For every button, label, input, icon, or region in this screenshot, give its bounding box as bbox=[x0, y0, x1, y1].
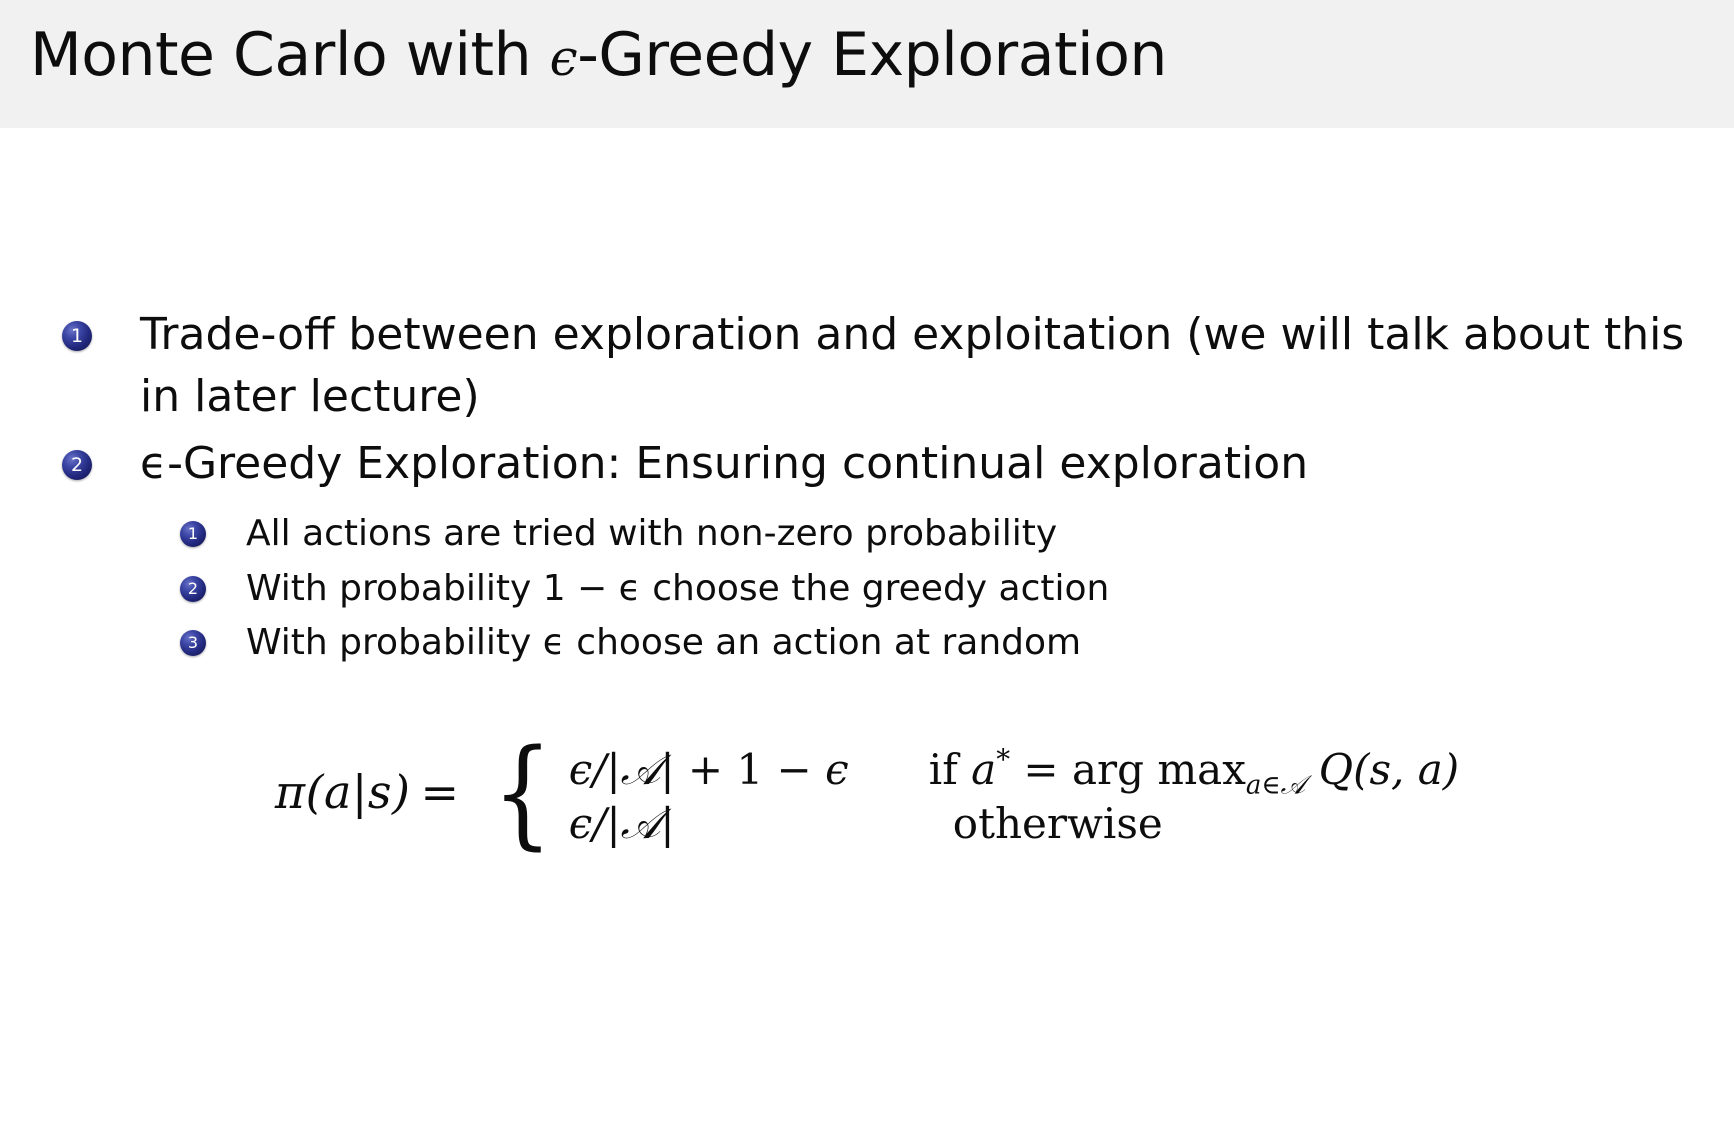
epsilon-glyph: ϵ bbox=[550, 29, 578, 87]
slide-title-bar: Monte Carlo with ϵ-Greedy Exploration bbox=[0, 0, 1734, 128]
otherwise-keyword: otherwise bbox=[953, 799, 1163, 848]
slash-symbol: / bbox=[592, 745, 606, 794]
abs-close: | bbox=[660, 745, 674, 794]
pi-arguments: (a|s) bbox=[306, 765, 411, 819]
policy-equation: π(a|s)= { ϵ/|𝒜| + 1 − ϵif a* = arg maxa∈… bbox=[0, 728, 1734, 856]
equals-sign: = bbox=[410, 765, 469, 819]
one-symbol: 1 bbox=[736, 745, 763, 794]
bullet-number-icon: 2 bbox=[62, 450, 92, 480]
sub-list-item-label: All actions are tried with non-zero prob… bbox=[246, 513, 1057, 554]
bullet-number-icon: 1 bbox=[62, 321, 92, 351]
if-keyword: if bbox=[929, 745, 958, 794]
argmax-operator: arg max bbox=[1072, 745, 1246, 794]
sub-list-item-label: With probability 1 − ϵ choose the greedy… bbox=[246, 568, 1109, 609]
sub-list-item: 2 With probability 1 − ϵ choose the gree… bbox=[180, 562, 1712, 617]
equation-inner: π(a|s)= { ϵ/|𝒜| + 1 − ϵif a* = arg maxa∈… bbox=[275, 728, 1459, 856]
page-title-suffix: -Greedy Exploration bbox=[577, 20, 1167, 90]
argmax-subscript: a∈𝒜 bbox=[1246, 770, 1305, 800]
plus-symbol: + bbox=[688, 745, 723, 794]
script-a-symbol: 𝒜 bbox=[621, 799, 661, 848]
case-condition: otherwise bbox=[929, 792, 1163, 856]
epsilon-symbol: ϵ bbox=[569, 799, 593, 848]
page-title: Monte Carlo with ϵ-Greedy Exploration bbox=[30, 22, 1167, 88]
q-function-symbol: Q bbox=[1319, 745, 1353, 794]
list-item: 2 ϵ-Greedy Exploration: Ensuring continu… bbox=[62, 433, 1712, 671]
bullet-number-icon: 3 bbox=[180, 630, 206, 656]
abs-open: | bbox=[606, 799, 620, 848]
sub-outline-list: 1 All actions are tried with non-zero pr… bbox=[180, 507, 1712, 671]
list-item-label: ϵ-Greedy Exploration: Ensuring continual… bbox=[140, 438, 1308, 489]
cases-brace-icon: { bbox=[492, 738, 552, 847]
slash-symbol: / bbox=[592, 799, 606, 848]
sub-list-item: 1 All actions are tried with non-zero pr… bbox=[180, 507, 1712, 562]
pi-symbol: π bbox=[275, 765, 306, 819]
equation-left-hand-side: π(a|s)= bbox=[275, 765, 480, 819]
slide-body: 1 Trade-off between exploration and expl… bbox=[0, 128, 1734, 1126]
bullet-number-icon: 1 bbox=[180, 521, 206, 547]
outline-list: 1 Trade-off between exploration and expl… bbox=[62, 304, 1712, 677]
case-value: ϵ/|𝒜| bbox=[569, 792, 929, 856]
bullet-number-icon: 2 bbox=[180, 576, 206, 602]
page-title-prefix: Monte Carlo with bbox=[30, 20, 550, 90]
script-a-symbol: 𝒜 bbox=[621, 745, 661, 794]
abs-open: | bbox=[606, 745, 620, 794]
abs-close: | bbox=[660, 799, 674, 848]
cases-block: ϵ/|𝒜| + 1 − ϵif a* = arg maxa∈𝒜 Q(s, a) … bbox=[569, 728, 1459, 856]
epsilon-symbol-2: ϵ bbox=[825, 745, 849, 794]
sub-list-item-label: With probability ϵ choose an action at r… bbox=[246, 622, 1081, 663]
star-superscript: * bbox=[996, 743, 1010, 776]
list-item: 1 Trade-off between exploration and expl… bbox=[62, 304, 1712, 427]
equals-sign-2: = bbox=[1023, 745, 1058, 794]
q-function-args: (s, a) bbox=[1353, 745, 1459, 794]
list-item-label: Trade-off between exploration and exploi… bbox=[140, 309, 1684, 422]
case-row: ϵ/|𝒜| + 1 − ϵif a* = arg maxa∈𝒜 Q(s, a) bbox=[569, 728, 1459, 792]
a-star-symbol: a bbox=[971, 745, 996, 794]
slide: Monte Carlo with ϵ-Greedy Exploration 1 … bbox=[0, 0, 1734, 1126]
minus-symbol: − bbox=[777, 745, 812, 794]
sub-list-item: 3 With probability ϵ choose an action at… bbox=[180, 616, 1712, 671]
epsilon-symbol: ϵ bbox=[569, 745, 593, 794]
